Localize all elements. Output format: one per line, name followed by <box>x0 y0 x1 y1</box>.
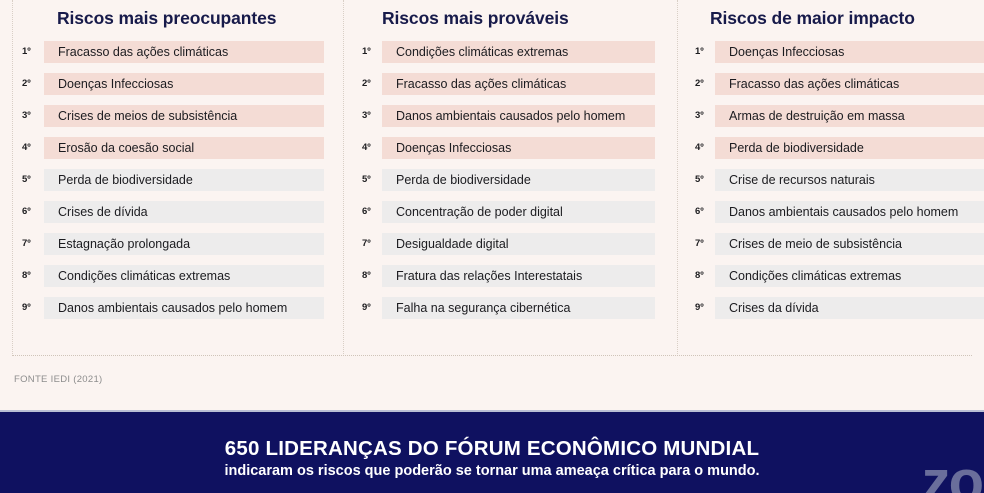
banner-title: 650 LIDERANÇAS DO FÓRUM ECONÔMICO MUNDIA… <box>0 437 984 461</box>
rank-label: Concentração de poder digital <box>382 201 655 223</box>
rank-number: 7º <box>354 233 382 255</box>
rank-label: Crises de dívida <box>44 201 324 223</box>
rank-label: Perda de biodiversidade <box>382 169 655 191</box>
rank-number: 3º <box>354 105 382 127</box>
rank-item: 5º Perda de biodiversidade <box>12 169 344 191</box>
rank-label: Crises da dívida <box>715 297 984 319</box>
rank-label: Doenças Infecciosas <box>44 73 324 95</box>
rank-item: 7º Desigualdade digital <box>354 233 677 255</box>
rank-item: 2º Fracasso das ações climáticas <box>354 73 677 95</box>
column-title: Riscos mais preocupantes <box>12 8 344 29</box>
rank-item: 8º Condições climáticas extremas <box>12 265 344 287</box>
rank-item: 3º Armas de destruição em massa <box>687 105 984 127</box>
rank-item: 2º Doenças Infecciosas <box>12 73 344 95</box>
bottom-separator <box>12 355 972 356</box>
rank-number: 3º <box>687 105 715 127</box>
column-title: Riscos de maior impacto <box>687 8 984 29</box>
rank-item: 3º Crises de meios de subsistência <box>12 105 344 127</box>
rank-item: 9º Falha na segurança cibernética <box>354 297 677 319</box>
rank-number: 3º <box>12 105 44 127</box>
rank-number: 6º <box>354 201 382 223</box>
rank-label: Doenças Infecciosas <box>382 137 655 159</box>
rank-list: 1º Fracasso das ações climáticas 2º Doen… <box>12 41 344 319</box>
rank-number: 6º <box>12 201 44 223</box>
rank-number: 1º <box>354 41 382 63</box>
rank-number: 1º <box>687 41 715 63</box>
rank-label: Desigualdade digital <box>382 233 655 255</box>
rank-item: 4º Perda de biodiversidade <box>687 137 984 159</box>
rank-label: Condições climáticas extremas <box>44 265 324 287</box>
rank-item: 4º Doenças Infecciosas <box>354 137 677 159</box>
rank-number: 9º <box>687 297 715 319</box>
risk-rankings-panel: Riscos mais preocupantes 1º Fracasso das… <box>0 0 984 410</box>
rank-label: Perda de biodiversidade <box>44 169 324 191</box>
rank-label: Danos ambientais causados pelo homem <box>44 297 324 319</box>
rank-number: 7º <box>687 233 715 255</box>
rank-item: 3º Danos ambientais causados pelo homem <box>354 105 677 127</box>
banner-subtitle: indicaram os riscos que poderão se torna… <box>0 462 984 481</box>
rank-label: Erosão da coesão social <box>44 137 324 159</box>
column-title: Riscos mais prováveis <box>354 8 677 29</box>
rank-label: Falha na segurança cibernética <box>382 297 655 319</box>
rank-item: 2º Fracasso das ações climáticas <box>687 73 984 95</box>
rank-label: Doenças Infecciosas <box>715 41 984 63</box>
rank-label: Condições climáticas extremas <box>382 41 655 63</box>
rank-number: 9º <box>12 297 44 319</box>
rank-number: 2º <box>354 73 382 95</box>
rank-number: 2º <box>687 73 715 95</box>
rank-item: 6º Danos ambientais causados pelo homem <box>687 201 984 223</box>
rank-item: 4º Erosão da coesão social <box>12 137 344 159</box>
rank-item: 6º Crises de dívida <box>12 201 344 223</box>
rank-item: 8º Condições climáticas extremas <box>687 265 984 287</box>
rank-list: 1º Condições climáticas extremas 2º Frac… <box>354 41 677 319</box>
rank-item: 9º Crises da dívida <box>687 297 984 319</box>
rank-label: Condições climáticas extremas <box>715 265 984 287</box>
rank-label: Fracasso das ações climáticas <box>44 41 324 63</box>
rank-label: Fratura das relações Interestatais <box>382 265 655 287</box>
rank-item: 1º Doenças Infecciosas <box>687 41 984 63</box>
rank-number: 4º <box>687 137 715 159</box>
rank-label: Crises de meio de subsistência <box>715 233 984 255</box>
rank-item: 1º Condições climáticas extremas <box>354 41 677 63</box>
rank-number: 8º <box>354 265 382 287</box>
rank-number: 2º <box>12 73 44 95</box>
rank-label: Armas de destruição em massa <box>715 105 984 127</box>
rank-label: Crises de meios de subsistência <box>44 105 324 127</box>
rank-item: 1º Fracasso das ações climáticas <box>12 41 344 63</box>
rank-item: 8º Fratura das relações Interestatais <box>354 265 677 287</box>
rank-number: 8º <box>687 265 715 287</box>
risk-column-provaveis: Riscos mais prováveis 1º Condições climá… <box>344 0 677 356</box>
rank-number: 8º <box>12 265 44 287</box>
rank-number: 9º <box>354 297 382 319</box>
rank-list: 1º Doenças Infecciosas 2º Fracasso das a… <box>687 41 984 319</box>
summary-banner: 650 LIDERANÇAS DO FÓRUM ECONÔMICO MUNDIA… <box>0 410 984 493</box>
rank-item: 9º Danos ambientais causados pelo homem <box>12 297 344 319</box>
banner-text-group: 650 LIDERANÇAS DO FÓRUM ECONÔMICO MUNDIA… <box>0 437 984 480</box>
rank-number: 5º <box>687 169 715 191</box>
rank-item: 5º Crise de recursos naturais <box>687 169 984 191</box>
rank-item: 7º Crises de meio de subsistência <box>687 233 984 255</box>
rank-item: 7º Estagnação prolongada <box>12 233 344 255</box>
rank-label: Perda de biodiversidade <box>715 137 984 159</box>
rank-item: 6º Concentração de poder digital <box>354 201 677 223</box>
rank-number: 1º <box>12 41 44 63</box>
rank-label: Danos ambientais causados pelo homem <box>715 201 984 223</box>
rank-number: 6º <box>687 201 715 223</box>
rank-label: Crise de recursos naturais <box>715 169 984 191</box>
rank-label: Estagnação prolongada <box>44 233 324 255</box>
rank-number: 4º <box>354 137 382 159</box>
source-note: FONTE IEDI (2021) <box>14 374 103 385</box>
rank-number: 5º <box>12 169 44 191</box>
rank-item: 5º Perda de biodiversidade <box>354 169 677 191</box>
rank-number: 7º <box>12 233 44 255</box>
risk-column-preocupantes: Riscos mais preocupantes 1º Fracasso das… <box>0 0 344 356</box>
rank-label: Fracasso das ações climáticas <box>382 73 655 95</box>
risk-column-maior-impacto: Riscos de maior impacto 1º Doenças Infec… <box>677 0 984 356</box>
rank-label: Danos ambientais causados pelo homem <box>382 105 655 127</box>
rank-number: 4º <box>12 137 44 159</box>
global-risks-infographic: Riscos mais preocupantes 1º Fracasso das… <box>0 0 984 493</box>
rank-label: Fracasso das ações climáticas <box>715 73 984 95</box>
rank-number: 5º <box>354 169 382 191</box>
risk-columns: Riscos mais preocupantes 1º Fracasso das… <box>0 0 984 356</box>
